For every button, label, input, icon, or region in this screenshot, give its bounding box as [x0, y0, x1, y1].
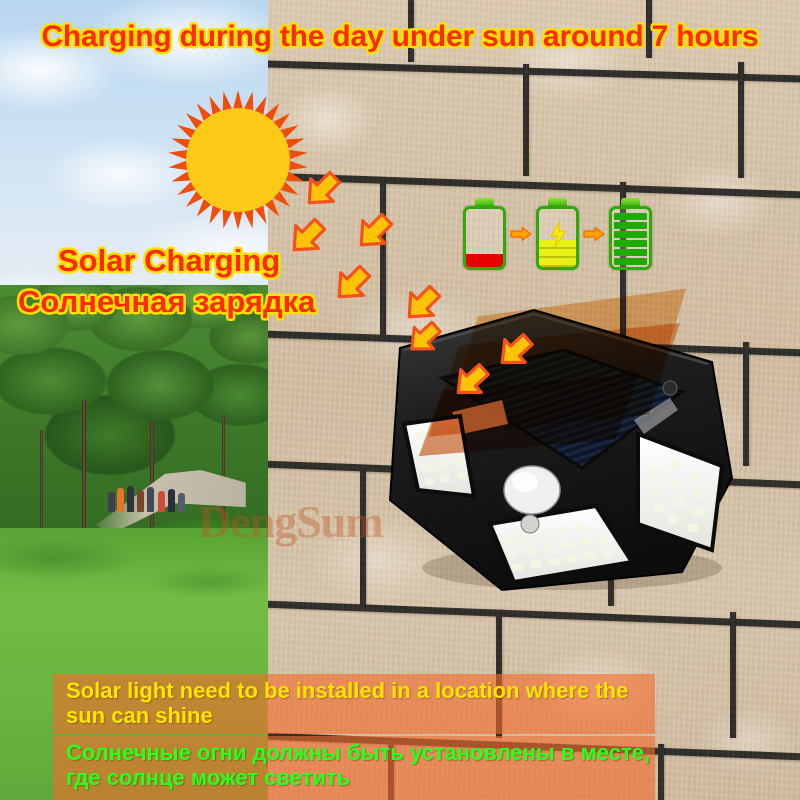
- sun-icon: [168, 90, 308, 230]
- mortar-line: [268, 60, 800, 83]
- person: [158, 491, 165, 512]
- battery-body: [609, 206, 652, 270]
- mortar-line: [268, 600, 800, 629]
- battery-bar: [614, 213, 647, 220]
- battery-body: [536, 206, 579, 270]
- person: [137, 490, 144, 512]
- watermark: DengSum: [198, 495, 383, 548]
- battery-empty-icon: [463, 198, 506, 270]
- lightning-bolt-icon: [548, 221, 568, 247]
- screw: [663, 381, 677, 395]
- solar-charging-label-ru: Солнечная зарядка: [18, 284, 315, 320]
- footer-text-en: Solar light need to be installed in a lo…: [66, 678, 666, 728]
- battery-level-fill: [466, 254, 503, 267]
- footer-text-ru: Солнечные огни должны быть установлены в…: [66, 740, 666, 790]
- person: [178, 493, 185, 512]
- battery-charge-sequence: [463, 198, 652, 270]
- mortar-line: [523, 64, 529, 176]
- battery-body: [463, 206, 506, 270]
- person: [117, 488, 124, 512]
- tree-trunk: [82, 400, 86, 535]
- tree-trunk: [40, 430, 43, 530]
- arrow-right-icon: [510, 226, 532, 242]
- sun-disc: [186, 108, 290, 212]
- mortar-line: [730, 612, 736, 738]
- battery-bar: [614, 249, 647, 256]
- arrow-right-icon: [583, 226, 605, 242]
- solar-charging-label-en: Solar Charging: [58, 243, 280, 279]
- battery-bar: [614, 240, 647, 247]
- person: [147, 487, 154, 512]
- battery-charging-icon: [536, 198, 579, 270]
- person: [127, 486, 134, 512]
- mortar-line: [738, 62, 744, 178]
- page-title: Charging during the day under sun around…: [0, 20, 800, 54]
- person: [168, 489, 175, 512]
- battery-level-bars: [614, 211, 647, 265]
- battery-bar: [614, 258, 647, 265]
- battery-full-icon: [609, 198, 652, 270]
- battery-bar: [614, 222, 647, 229]
- person: [108, 492, 115, 512]
- battery-bar: [614, 231, 647, 238]
- product-infographic: Charging during the day under sun around…: [0, 0, 800, 800]
